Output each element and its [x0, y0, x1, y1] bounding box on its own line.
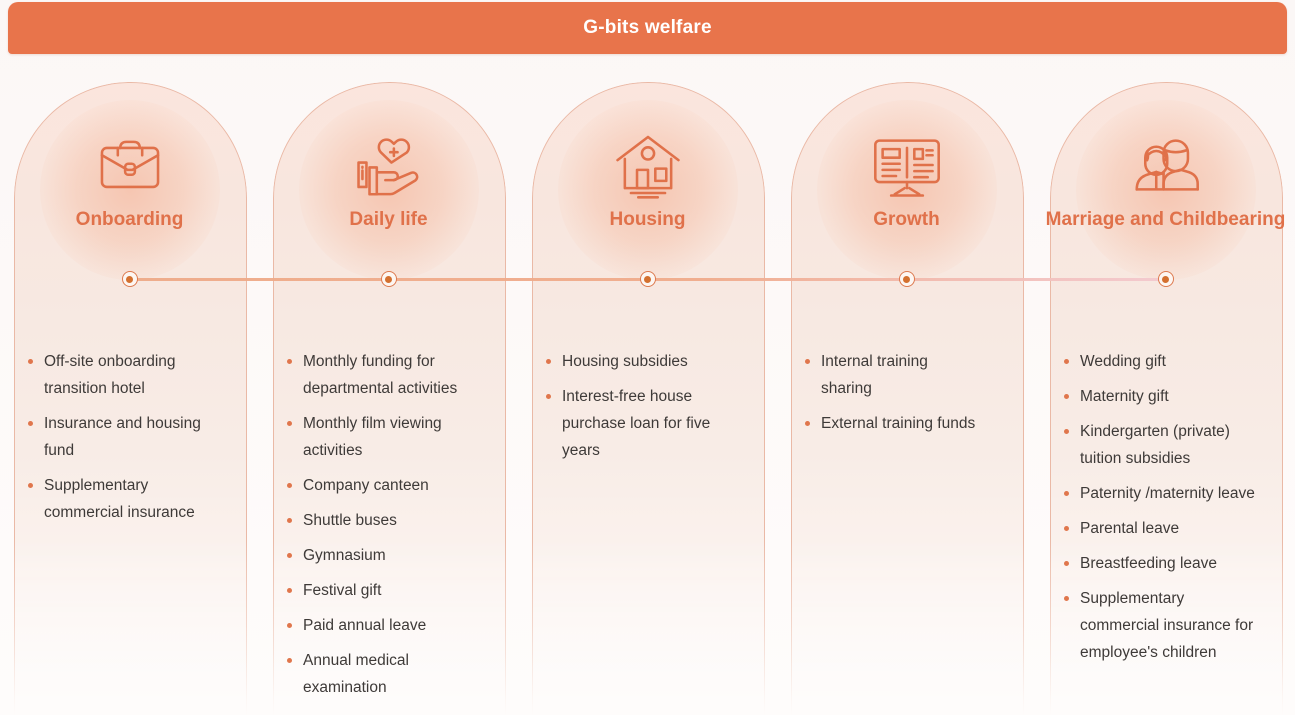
column-onboarding[interactable]: Onboarding Off-site onboarding transitio… [0, 56, 259, 715]
column-title-marriage-and-childbearing: Marriage and Childbearing [1044, 208, 1287, 232]
list-item: Supplementary commercial insurance for e… [1058, 585, 1263, 666]
list-item: Wedding gift [1058, 348, 1263, 375]
column-marriage-and-childbearing[interactable]: Marriage and Childbearing Wedding gift M… [1036, 56, 1295, 715]
benefit-list-housing: Housing subsidies Interest-free house pu… [540, 348, 736, 472]
list-item: Monthly film viewing activities [281, 410, 477, 464]
welfare-infographic: G-bits welfare Onboarding Off-site onboa… [0, 0, 1295, 715]
house-icon [605, 122, 691, 208]
columns-container: Onboarding Off-site onboarding transitio… [0, 56, 1295, 715]
list-item: Interest-free house purchase loan for fi… [540, 383, 736, 464]
list-item: Parental leave [1058, 515, 1263, 542]
column-title-onboarding: Onboarding [8, 208, 251, 232]
list-item: Breastfeeding leave [1058, 550, 1263, 577]
benefit-list-onboarding: Off-site onboarding transition hotel Ins… [22, 348, 222, 534]
list-item: Gymnasium [281, 542, 477, 569]
list-item: Annual medical examination [281, 647, 477, 701]
column-title-growth: Growth [785, 208, 1028, 232]
column-daily-life[interactable]: Daily life Monthly funding for departmen… [259, 56, 518, 715]
timeline-marker-onboarding [122, 271, 138, 287]
list-item: Monthly funding for departmental activit… [281, 348, 477, 402]
list-item: Company canteen [281, 472, 477, 499]
list-item: External training funds [799, 410, 979, 437]
open-book-monitor-icon [864, 122, 950, 208]
list-item: Maternity gift [1058, 383, 1263, 410]
list-item: Supplementary commercial insurance [22, 472, 222, 526]
list-item: Internal training sharing [799, 348, 979, 402]
header-bar: G-bits welfare [8, 2, 1287, 54]
list-item: Paternity /maternity leave [1058, 480, 1263, 507]
column-growth[interactable]: Growth Internal training sharing Externa… [777, 56, 1036, 715]
list-item: Kindergarten (private) tuition subsidies [1058, 418, 1263, 472]
list-item: Shuttle buses [281, 507, 477, 534]
list-item: Insurance and housing fund [22, 410, 222, 464]
timeline-marker-housing [640, 271, 656, 287]
couple-icon [1123, 122, 1209, 208]
timeline-marker-marriage-and-childbearing [1158, 271, 1174, 287]
list-item: Paid annual leave [281, 612, 477, 639]
column-title-housing: Housing [526, 208, 769, 232]
timeline-marker-growth [899, 271, 915, 287]
list-item: Off-site onboarding transition hotel [22, 348, 222, 402]
page-title: G-bits welfare [583, 17, 711, 39]
benefit-list-marriage-and-childbearing: Wedding gift Maternity gift Kindergarten… [1058, 348, 1263, 674]
benefit-list-daily-life: Monthly funding for departmental activit… [281, 348, 477, 709]
timeline-marker-daily-life [381, 271, 397, 287]
list-item: Housing subsidies [540, 348, 736, 375]
column-title-daily-life: Daily life [267, 208, 510, 232]
briefcase-icon [87, 122, 173, 208]
column-housing[interactable]: Housing Housing subsidies Interest-free … [518, 56, 777, 715]
benefit-list-growth: Internal training sharing External train… [799, 348, 979, 445]
list-item: Festival gift [281, 577, 477, 604]
hand-heart-care-icon [346, 122, 432, 208]
